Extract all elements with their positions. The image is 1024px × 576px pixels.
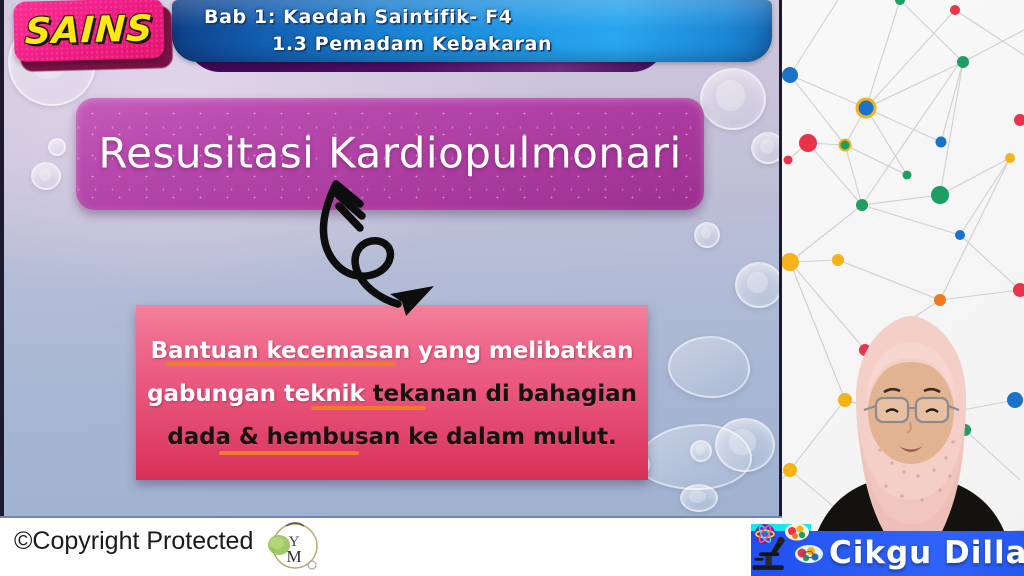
blob-decoration [638, 424, 752, 490]
molecule-icon [795, 545, 823, 563]
definition-box: Bantuan kecemasan yang melibatkan gabung… [136, 305, 648, 480]
definition-text-white-2: gabungan teknik [147, 381, 372, 407]
bubble-decoration [735, 262, 782, 308]
definition-line-3: dada & hembusan ke dalam mulut. [136, 424, 648, 450]
bubble-decoration [694, 222, 720, 248]
curly-arrow-icon [290, 176, 470, 326]
atom-icon [755, 524, 775, 544]
definition-line-1: Bantuan kecemasan yang melibatkan [136, 338, 648, 364]
lesson-subtitle: 1.3 Pemadam Kebakaran [272, 33, 772, 55]
slide-title: Resusitasi Kardiopulmonari [76, 129, 704, 178]
definition-line-2: gabungan teknik tekanan di bahagian [136, 381, 648, 407]
underline-highlight [166, 362, 396, 366]
slide-left-border [0, 0, 4, 516]
bubble-decoration [751, 132, 782, 164]
lesson-header-banner: Bab 1: Kaedah Saintifik- F4 1.3 Pemadam … [172, 0, 772, 62]
science-icons-group [741, 524, 837, 576]
bubble-decoration [700, 68, 766, 130]
underline-highlight [311, 406, 426, 410]
ym-logo-letter-m: M [286, 547, 301, 566]
definition-text-black-2: tekanan di bahagian [373, 381, 637, 407]
lesson-slide: Resusitasi Kardiopulmonari Bantuan kecem… [0, 0, 782, 516]
bubble-decoration [48, 138, 66, 156]
bubble-decoration [31, 162, 61, 190]
blob-decoration [668, 336, 750, 398]
presenter-name: Cikgu Dilla [829, 535, 1024, 571]
sains-logo-card: SAINS [13, 0, 165, 62]
sains-logo-text: SAINS [24, 8, 154, 52]
bubble-decoration [680, 484, 718, 512]
definition-text-white-1: Bantuan kecemasan yang melibatkan [151, 338, 634, 364]
screen-root: Resusitasi Kardiopulmonari Bantuan kecem… [0, 0, 1024, 576]
copyright-notice: ©Copyright Protected [14, 527, 253, 556]
definition-text-black-3: dada & hembusan ke dalam mulut. [167, 424, 616, 450]
sains-logo: SAINS [13, 0, 165, 62]
flask-icon [785, 524, 809, 541]
chapter-title: Bab 1: Kaedah Saintifik- F4 [204, 6, 772, 28]
ym-watermark-logo: Y M [262, 520, 318, 572]
underline-highlight [219, 451, 359, 455]
